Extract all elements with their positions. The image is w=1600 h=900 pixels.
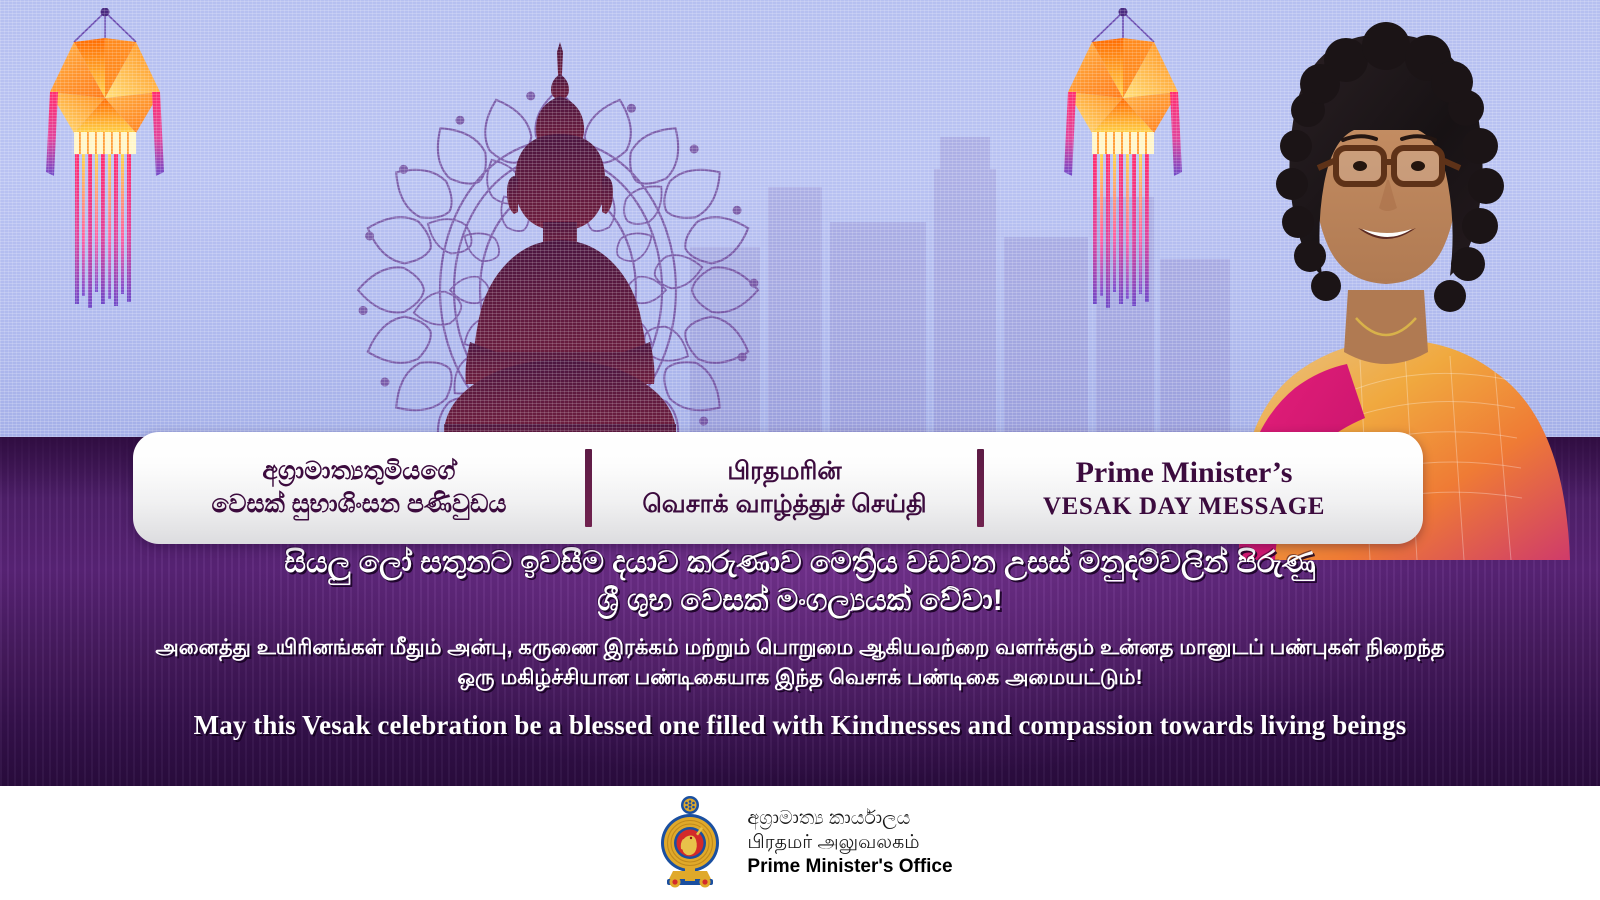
banner-sinhala-line2: වෙසක් සුභාශිංසන පණිවුඩය — [211, 490, 506, 520]
footer-office-names: අග්‍රාමාත්‍ය කාර්යාලය பிரதமர் அலுவலகம் P… — [747, 807, 952, 880]
vesak-lantern-icon — [30, 8, 180, 308]
message-tamil-line1: அனைத்து உயிரினங்கள் மீதும் அன்பு, கருணை … — [155, 636, 1444, 659]
banner-english-title: Prime Minister’s VESAK DAY MESSAGE — [984, 455, 1384, 522]
footer-sinhala: අග්‍රාමාත්‍ය කාර්යාලය — [747, 807, 952, 831]
banner-tamil-line2: வெசாக் வாழ்த்துச் செய்தி — [642, 490, 926, 520]
message-english: May this Vesak celebration be a blessed … — [0, 710, 1600, 741]
banner-tamil-title: பிரதமரின் வெசாக் வாழ்த்துச் செய்தி — [592, 457, 977, 520]
banner-sinhala-title: අග්‍රාමාත්‍යතුමියගේ වෙසක් සුභාශිංසන පණිව… — [133, 457, 585, 519]
footer-identity: අග්‍රාමාත්‍ය කාර්යාලය பிரதமர் அலுவலகம் P… — [647, 795, 952, 891]
banner-divider — [977, 449, 984, 527]
banner-divider — [585, 449, 592, 527]
banner-sinhala-line1: අග්‍රාමාත්‍යතුමියගේ — [262, 457, 455, 487]
buddha-silhouette-icon — [430, 42, 690, 437]
greeting-messages: සියලු ලෝ සතුනට ඉවසීම දයාව කරුණාව මෙත්‍රි… — [0, 545, 1600, 741]
banner-tamil-line1: பிரதமரின் — [727, 457, 841, 487]
message-tamil-line2: ஒரு மகிழ்ச்சியான பண்டிகையாக இந்த வெசாக் … — [0, 663, 1600, 693]
vesak-greeting-poster: අග්‍රාමාත්‍යතුමියගේ වෙසක් සුභාශිංසන පණිව… — [0, 0, 1600, 900]
vesak-lantern-icon — [1048, 8, 1198, 308]
footer-bar: අග්‍රාමාත්‍ය කාර්යාලය பிரதமர் அலுவலகம் P… — [0, 786, 1600, 900]
banner-english-line2: VESAK DAY MESSAGE — [1043, 492, 1325, 522]
message-sinhala: සියලු ලෝ සතුනට ඉවසීම දයාව කරුණාව මෙත්‍රි… — [0, 545, 1600, 619]
footer-english: Prime Minister's Office — [747, 855, 952, 879]
sri-lanka-national-emblem-icon — [647, 795, 733, 891]
message-tamil: அனைத்து உயிரினங்கள் மீதும் அன்பு, கருணை … — [0, 633, 1600, 694]
title-banner: අග්‍රාමාත්‍යතුමියගේ වෙසක් සුභාශිංසන පණිව… — [133, 432, 1423, 544]
footer-tamil: பிரதமர் அலுவலகம் — [747, 831, 952, 855]
message-sinhala-line2: ශ්‍රී ශුභ වෙසක් මංගල්‍යයක් වේවා! — [0, 583, 1600, 619]
message-sinhala-line1: සියලු ලෝ සතුනට ඉවසීම දයාව කරුණාව මෙත්‍රි… — [284, 546, 1315, 579]
banner-english-line1: Prime Minister’s — [1076, 455, 1293, 490]
